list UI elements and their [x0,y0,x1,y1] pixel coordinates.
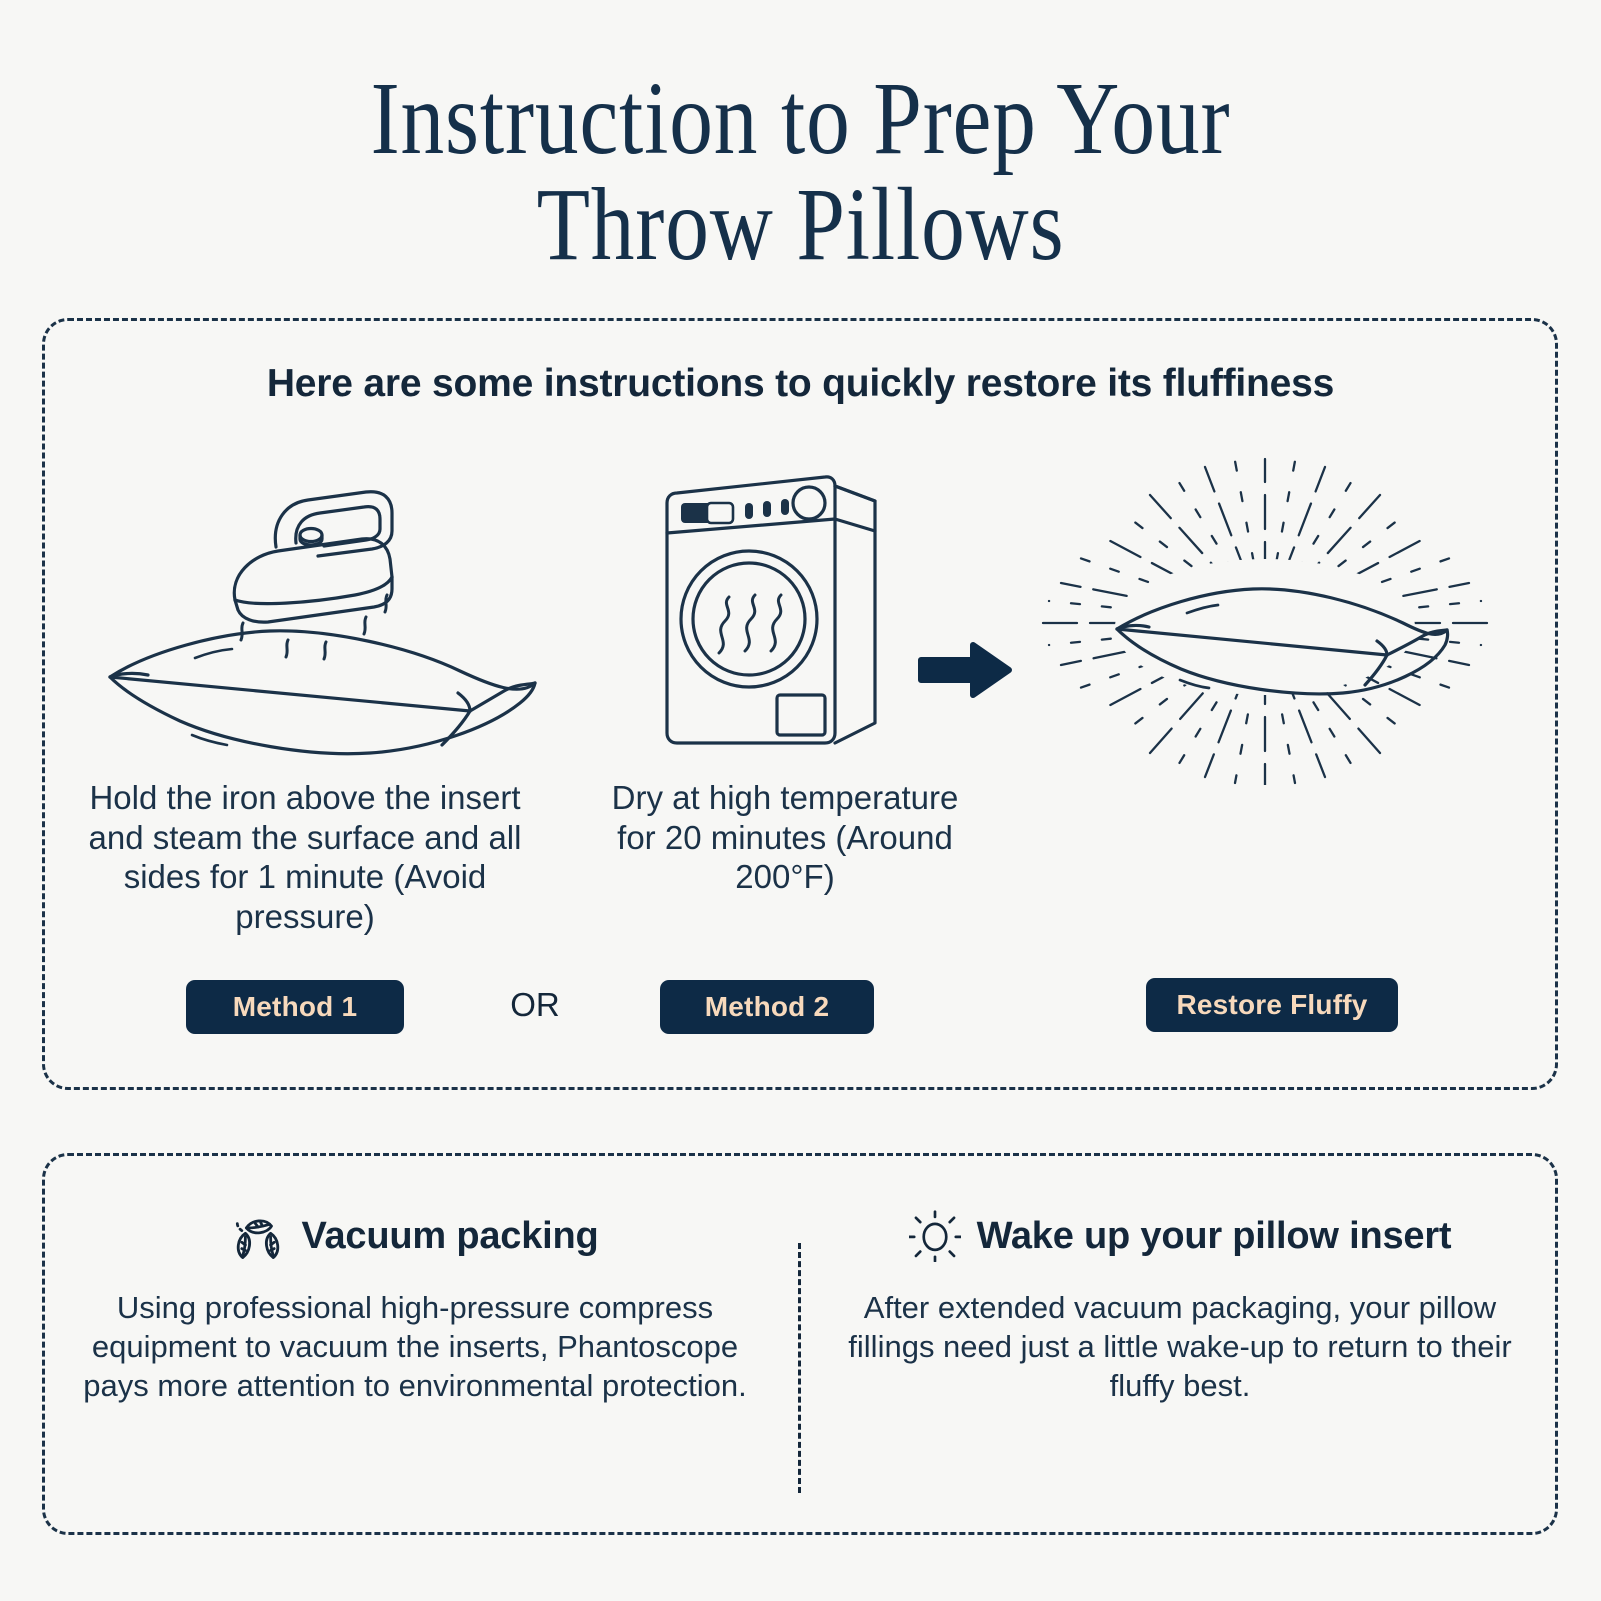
feature-title: Vacuum packing [301,1215,598,1258]
steam-iron-over-pillow-icon [80,455,550,775]
sun-icon [909,1210,961,1262]
page-title-line-2: Throw Pillows [128,172,1473,278]
feature-divider [798,1243,801,1493]
clothes-dryer-icon [635,455,895,775]
method-1-button[interactable]: Method 1 [186,980,404,1034]
methods-illustration-row [60,455,1540,785]
restore-fluffy-button[interactable]: Restore Fluffy [1146,978,1398,1032]
method-1-caption: Hold the iron above the insert and steam… [70,778,540,936]
arrow-right-icon [915,640,1015,700]
feature-title: Wake up your pillow insert [977,1215,1452,1258]
method-2-button[interactable]: Method 2 [660,980,874,1034]
instructions-subtitle: Here are some instructions to quickly re… [0,362,1601,406]
feature-body: After extended vacuum packaging, your pi… [835,1288,1525,1405]
feature-vacuum-packing: Vacuum packing Using professional high-p… [70,1200,760,1405]
method-2-caption: Dry at high temperature for 20 minutes (… [595,778,975,897]
infographic-page: Instruction to Prep Your Throw Pillows H… [0,0,1601,1601]
feature-header: Wake up your pillow insert [835,1200,1525,1272]
feature-wake-up-pillow: Wake up your pillow insert After extende… [835,1200,1525,1405]
feature-body: Using professional high-pressure compres… [70,1288,760,1405]
feature-header: Vacuum packing [70,1200,760,1272]
or-label: OR [495,986,575,1024]
fluffy-pillow-sunburst-icon [1035,455,1495,775]
eco-leaves-recycle-icon [231,1209,285,1263]
page-title: Instruction to Prep Your Throw Pillows [128,66,1473,278]
page-title-line-1: Instruction to Prep Your [371,61,1231,176]
